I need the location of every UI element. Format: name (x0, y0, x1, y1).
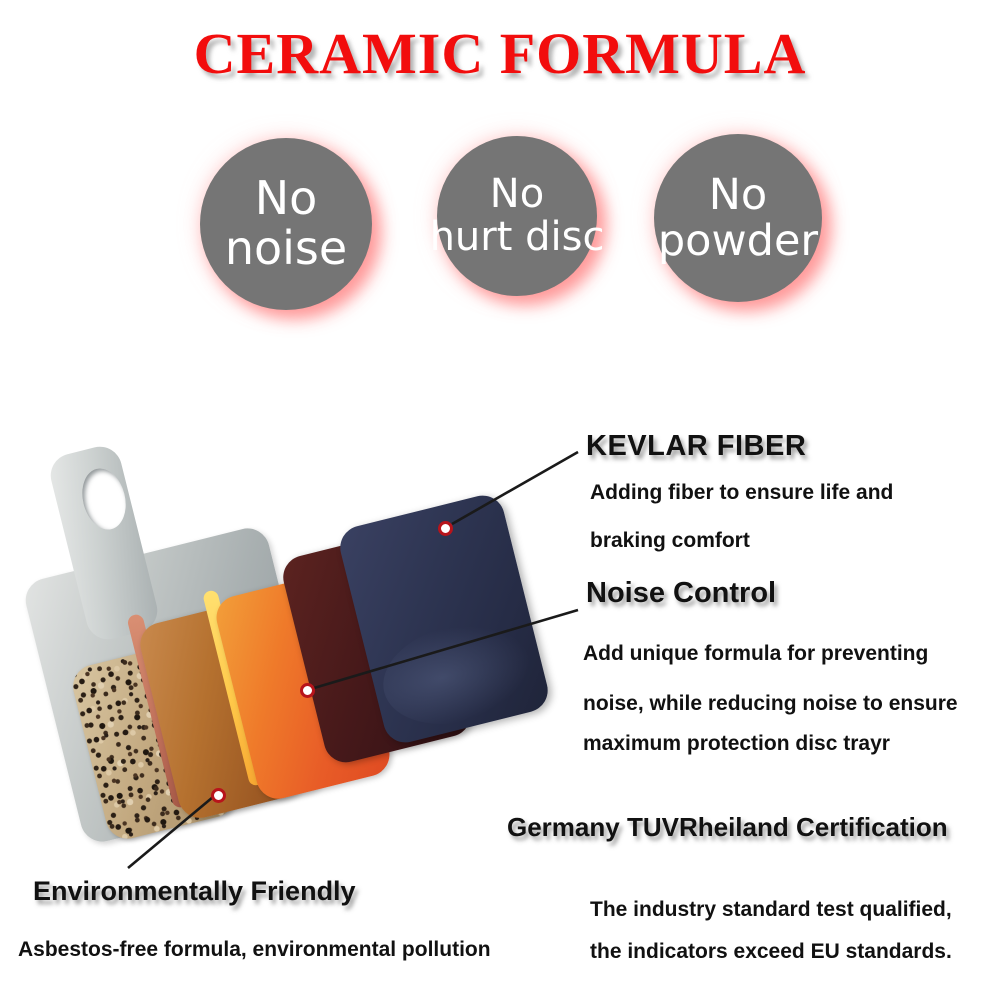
environment-body-line-1: Asbestos-free formula, environmental pol… (18, 938, 491, 962)
kevlar-body-line-2: braking comfort (590, 529, 750, 553)
germany-body-line-1: The industry standard test qualified, (590, 898, 952, 922)
germany-body-line-2: the indicators exceed EU standards. (590, 940, 952, 964)
badge-no-hurt-disc-line1: No (490, 173, 544, 216)
callout-marker-environment (211, 788, 226, 803)
badge-no-hurt-disc-line2: hurt disc (430, 216, 605, 259)
page-title: CERAMIC FORMULA (0, 20, 1000, 87)
badge-no-noise-line1: No (255, 174, 318, 224)
heading-noise-control: Noise Control (586, 577, 776, 610)
kevlar-body-line-1: Adding fiber to ensure life and (590, 481, 893, 505)
heading-environmentally-friendly: Environmentally Friendly (33, 876, 356, 907)
product-image-layered-brake-pad (30, 430, 570, 890)
heading-germany-certification: Germany TUVRheiland Certification (507, 812, 948, 843)
noise-body-line-1: Add unique formula for preventing (583, 642, 928, 666)
badge-no-hurt-disc: No hurt disc (437, 136, 597, 296)
heading-kevlar-fiber: KEVLAR FIBER (586, 430, 806, 463)
badge-no-powder: No powder (654, 134, 822, 302)
badge-no-powder-line2: powder (658, 218, 818, 264)
callout-marker-noise (300, 683, 315, 698)
noise-body-line-3: maximum protection disc trayr (583, 732, 890, 756)
noise-body-line-2: noise, while reducing noise to ensure (583, 692, 958, 716)
badge-no-noise: No noise (200, 138, 372, 310)
badge-no-powder-line1: No (709, 172, 767, 218)
badge-no-noise-line2: noise (225, 224, 347, 274)
callout-marker-kevlar (438, 521, 453, 536)
